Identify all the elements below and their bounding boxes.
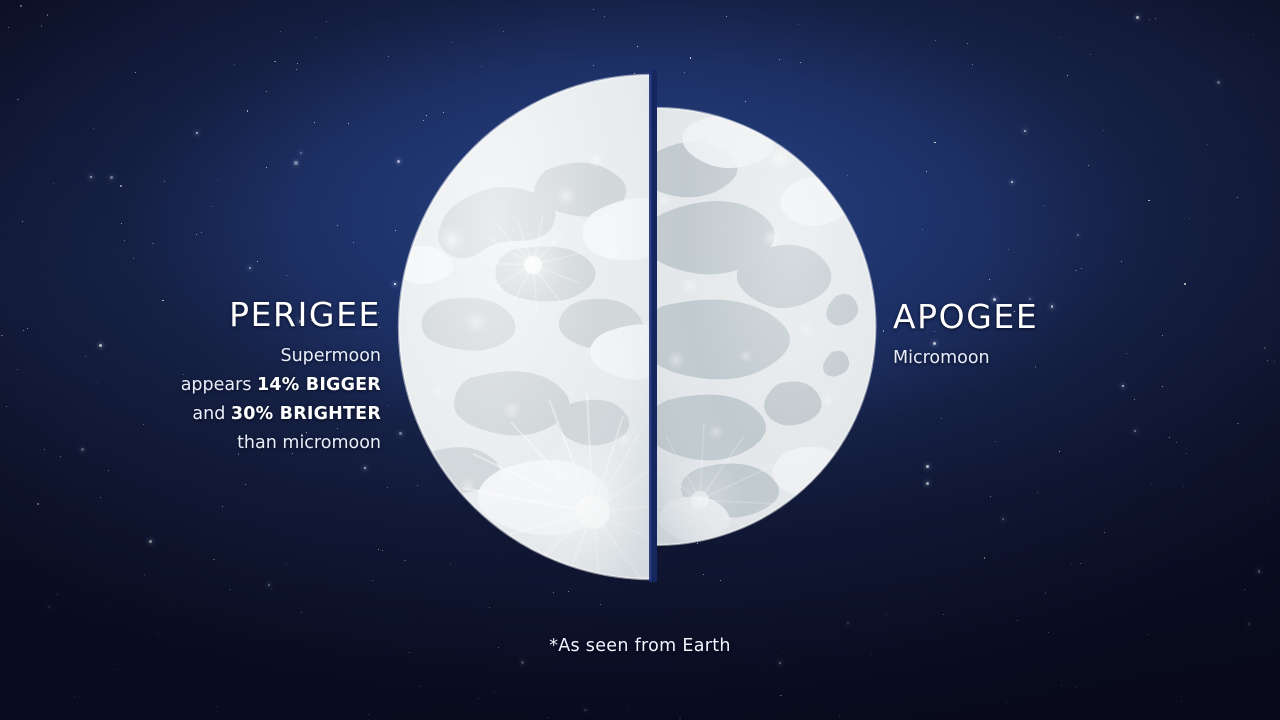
apogee-subtitle: Micromoon	[893, 344, 1038, 373]
perigee-subtitle: Supermoonappears 14% BIGGERand 30% BRIGH…	[181, 342, 381, 458]
footnote: *As seen from Earth	[0, 636, 1280, 656]
apogee-label-block: APOGEE Micromoon	[893, 300, 1038, 373]
subtitle-text: than micromoon	[237, 433, 381, 453]
perigee-moon-group	[395, 60, 683, 600]
subtitle-line: than micromoon	[181, 429, 381, 458]
subtitle-emphasis: 14% BIGGER	[257, 375, 381, 395]
subtitle-text: appears	[181, 375, 257, 395]
apogee-headline: APOGEE	[893, 300, 1038, 335]
subtitle-line: appears 14% BIGGER	[181, 371, 381, 400]
subtitle-text: and	[192, 404, 231, 424]
perigee-label-block: PERIGEE Supermoonappears 14% BIGGERand 3…	[181, 298, 381, 458]
subtitle-emphasis: 30% BRIGHTER	[231, 404, 381, 424]
subtitle-text: Supermoon	[280, 346, 381, 366]
subtitle-text: Micromoon	[893, 348, 990, 368]
apogee-moon-group	[642, 90, 880, 560]
subtitle-line: Supermoon	[181, 342, 381, 371]
perigee-headline: PERIGEE	[181, 298, 381, 333]
infographic-stage: PERIGEE Supermoonappears 14% BIGGERand 3…	[0, 0, 1280, 720]
moon-divider	[649, 70, 657, 582]
subtitle-line: Micromoon	[893, 344, 1038, 373]
subtitle-line: and 30% BRIGHTER	[181, 400, 381, 429]
